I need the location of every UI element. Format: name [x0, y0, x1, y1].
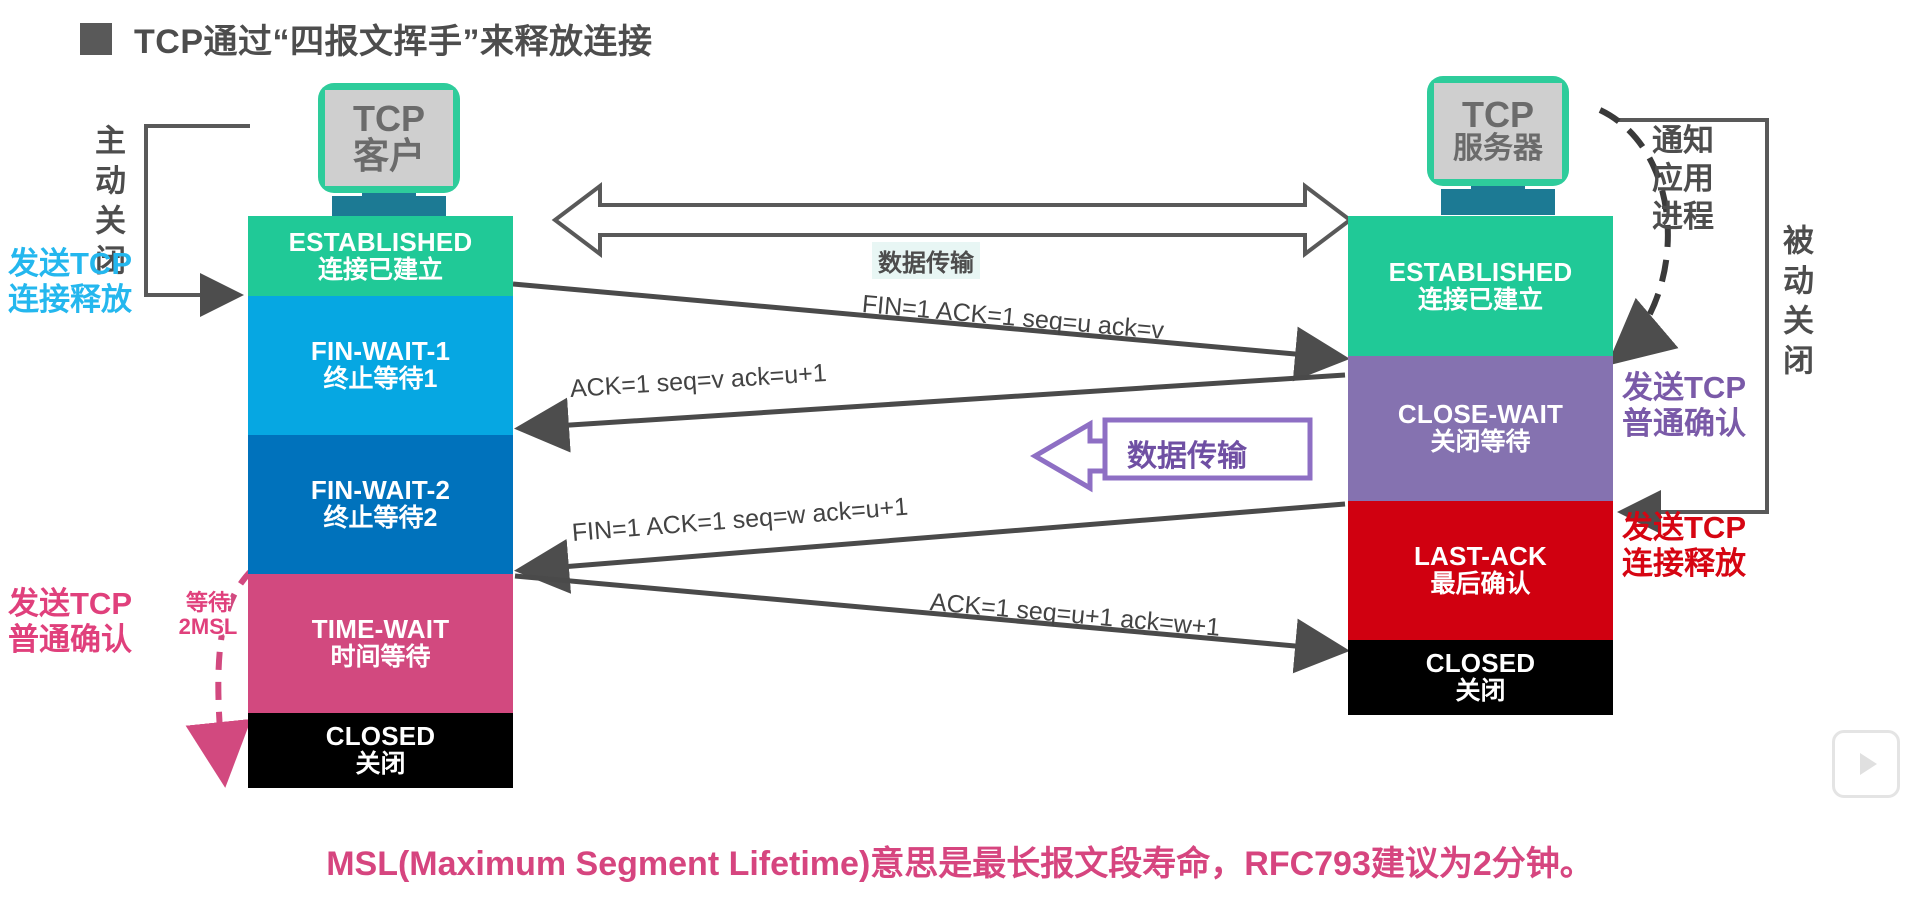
callout-data-transfer-top: 数据传输 — [872, 242, 980, 279]
client-state-established: ESTABLISHED 连接已建立 — [248, 216, 513, 296]
annotation-send-tcp-ack-right-l1: 发送TCP — [1622, 370, 1746, 406]
client-state-time-wait: TIME-WAIT 时间等待 — [248, 574, 513, 713]
client-state-established-en: ESTABLISHED — [289, 228, 473, 257]
annotation-send-tcp-ack-left: 发送TCP 普通确认 — [8, 586, 132, 658]
annotation-notify-app-process: 通知 应用 进程 — [1652, 122, 1714, 235]
client-host-box: TCP 客户 — [318, 83, 460, 193]
active-close-bracket — [146, 126, 250, 295]
client-state-time-wait-cn: 时间等待 — [330, 644, 430, 672]
client-host-line2: 客户 — [353, 138, 425, 175]
server-host-box: TCP 服务器 — [1427, 76, 1569, 186]
annotation-send-tcp-ack-right-l2: 普通确认 — [1622, 406, 1746, 442]
play-badge-watermark-icon — [1832, 730, 1900, 798]
segment-label-ack1: ACK=1 seq=v ack=u+1 — [569, 359, 827, 404]
annotation-send-tcp-ack-left-l2: 普通确认 — [8, 622, 132, 658]
client-state-time-wait-en: TIME-WAIT — [312, 615, 450, 644]
client-host-screen: TCP 客户 — [325, 90, 453, 186]
diagram-canvas: TCP通过“四报文挥手”来释放连接 — [0, 0, 1920, 906]
annotation-send-tcp-release-left: 发送TCP 连接释放 — [8, 246, 132, 318]
annotation-wait-2msl-l2: 2MSL — [165, 615, 251, 639]
server-state-established-en: ESTABLISHED — [1389, 258, 1573, 287]
callout-data-transfer-mid: 数据传输 — [1127, 431, 1247, 475]
client-state-established-cn: 连接已建立 — [318, 257, 443, 285]
label-passive-close: 被动关闭 — [1780, 224, 1811, 384]
client-state-column: ESTABLISHED 连接已建立 FIN-WAIT-1 终止等待1 FIN-W… — [248, 216, 513, 788]
page-title-text: TCP通过“四报文挥手”来释放连接 — [134, 14, 653, 63]
annotation-send-tcp-ack-right: 发送TCP 普通确认 — [1622, 370, 1746, 442]
annotation-send-tcp-release-right: 发送TCP 连接释放 — [1622, 510, 1746, 582]
segment-label-fin1: FIN=1 ACK=1 seq=u ack=v — [861, 290, 1165, 346]
annotation-send-tcp-release-left-l2: 连接释放 — [8, 282, 132, 318]
annotation-send-tcp-release-right-l2: 连接释放 — [1622, 546, 1746, 582]
server-host-screen: TCP 服务器 — [1434, 83, 1562, 179]
client-state-closed-en: CLOSED — [326, 722, 436, 751]
segment-label-fin2: FIN=1 ACK=1 seq=w ack=u+1 — [571, 493, 909, 548]
play-triangle-icon — [1860, 753, 1877, 775]
server-stand-base — [1441, 189, 1555, 215]
server-state-close-wait: CLOSE-WAIT 关闭等待 — [1348, 356, 1613, 501]
server-state-established-cn: 连接已建立 — [1418, 287, 1543, 315]
client-state-fin-wait-1: FIN-WAIT-1 终止等待1 — [248, 296, 513, 435]
client-state-fin-wait-2: FIN-WAIT-2 终止等待2 — [248, 435, 513, 574]
bottom-caption: MSL(Maximum Segment Lifetime)意思是最长报文段寿命，… — [0, 836, 1920, 885]
annotation-notify-app-process-l1: 通知 — [1652, 122, 1714, 160]
annotation-notify-app-process-l3: 进程 — [1652, 198, 1714, 236]
server-state-close-wait-cn: 关闭等待 — [1430, 429, 1530, 457]
server-host-line2: 服务器 — [1453, 134, 1543, 165]
segment-label-ack2: ACK=1 seq=u+1 ack=w+1 — [929, 588, 1222, 643]
title-bullet-icon — [80, 23, 112, 55]
server-state-closed: CLOSED 关闭 — [1348, 640, 1613, 715]
client-host-line1: TCP — [353, 101, 425, 138]
server-state-established: ESTABLISHED 连接已建立 — [1348, 216, 1613, 356]
client-state-fin-wait-2-en: FIN-WAIT-2 — [311, 476, 450, 505]
annotation-wait-2msl: 等待 2MSL — [165, 591, 251, 639]
server-host-line1: TCP — [1462, 97, 1534, 134]
server-state-last-ack-en: LAST-ACK — [1414, 542, 1547, 571]
client-state-fin-wait-1-en: FIN-WAIT-1 — [311, 337, 450, 366]
client-state-closed-cn: 关闭 — [355, 751, 405, 779]
annotation-wait-2msl-l1: 等待 — [165, 591, 251, 615]
server-state-last-ack: LAST-ACK 最后确认 — [1348, 501, 1613, 640]
server-state-last-ack-cn: 最后确认 — [1430, 571, 1530, 599]
client-state-fin-wait-1-cn: 终止等待1 — [324, 366, 438, 394]
server-state-closed-cn: 关闭 — [1455, 678, 1505, 706]
server-state-column: ESTABLISHED 连接已建立 CLOSE-WAIT 关闭等待 LAST-A… — [1348, 216, 1613, 715]
annotation-send-tcp-release-right-l1: 发送TCP — [1622, 510, 1746, 546]
page-title: TCP通过“四报文挥手”来释放连接 — [80, 14, 653, 63]
client-state-closed: CLOSED 关闭 — [248, 713, 513, 788]
annotation-send-tcp-release-left-l1: 发送TCP — [8, 246, 132, 282]
server-state-close-wait-en: CLOSE-WAIT — [1398, 400, 1563, 429]
annotation-send-tcp-ack-left-l1: 发送TCP — [8, 586, 132, 622]
client-state-fin-wait-2-cn: 终止等待2 — [324, 505, 438, 533]
annotation-notify-app-process-l2: 应用 — [1652, 160, 1714, 198]
server-state-closed-en: CLOSED — [1426, 649, 1536, 678]
